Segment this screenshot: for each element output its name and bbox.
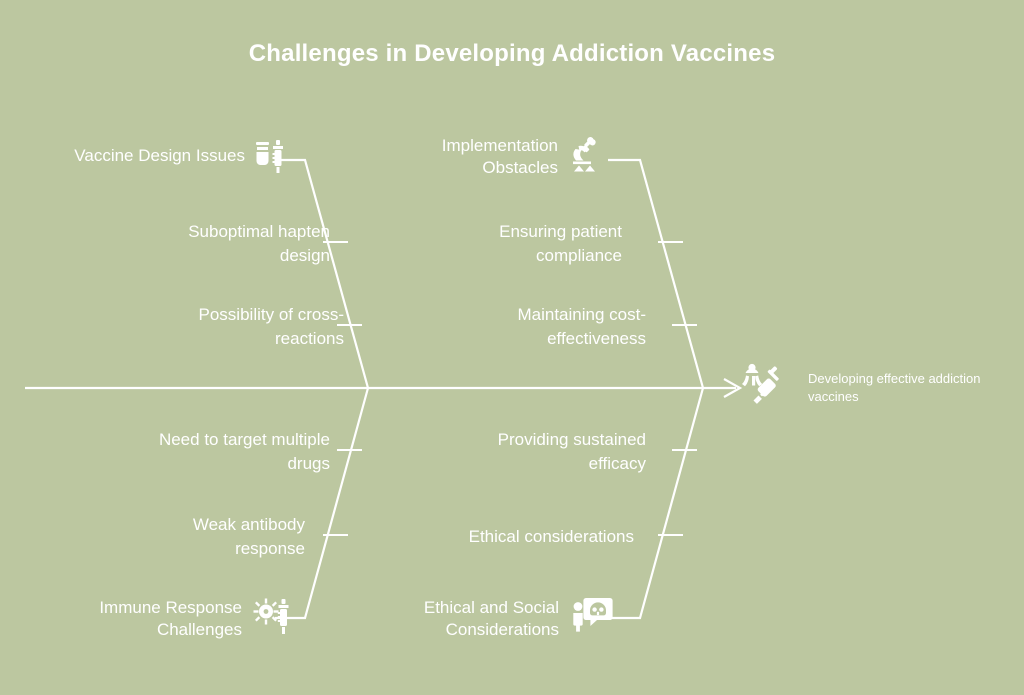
cause-label-ethical-considerations: Ethical considerations	[380, 525, 634, 549]
cause-label-need-to-target-multiple-drugs: Need to target multiple drugs	[60, 428, 330, 476]
category-label-immune-response-challenges: Immune Response Challenges	[10, 597, 242, 641]
cause-label-weak-antibody-response: Weak antibody response	[60, 513, 305, 561]
cause-label-maintaining-cost-effectiveness: Maintaining cost- effectiveness	[400, 303, 646, 351]
vial-syringe-icon	[252, 137, 292, 177]
page-title: Challenges in Developing Addiction Vacci…	[0, 40, 1024, 68]
syringe-molecule-icon	[738, 362, 790, 412]
person-speech-skull-icon	[570, 595, 614, 639]
category-label-ethical-and-social-considerations: Ethical and Social Considerations	[340, 597, 559, 641]
cause-label-suboptimal-hapten-design: Suboptimal hapten design	[60, 220, 330, 268]
virus-syringe-icon	[253, 596, 295, 638]
cause-label-possibility-of-cross-reactions: Possibility of cross- reactions	[60, 303, 344, 351]
fishbone-diagram-canvas: Challenges in Developing Addiction Vacci…	[0, 0, 1024, 695]
branch-top-right	[608, 160, 703, 388]
branch-bottom-right	[608, 388, 703, 618]
effect-label: Developing effective addiction vaccines	[808, 370, 1023, 406]
branch-bottom-left	[275, 388, 368, 618]
category-label-vaccine-design-issues: Vaccine Design Issues	[0, 145, 245, 167]
microscope-icon	[566, 136, 608, 178]
branch-top-left	[275, 160, 368, 388]
cause-label-providing-sustained-efficacy: Providing sustained efficacy	[400, 428, 646, 476]
cause-label-ensuring-patient-compliance: Ensuring patient compliance	[400, 220, 622, 268]
category-label-implementation-obstacles: Implementation Obstacles	[340, 135, 558, 179]
